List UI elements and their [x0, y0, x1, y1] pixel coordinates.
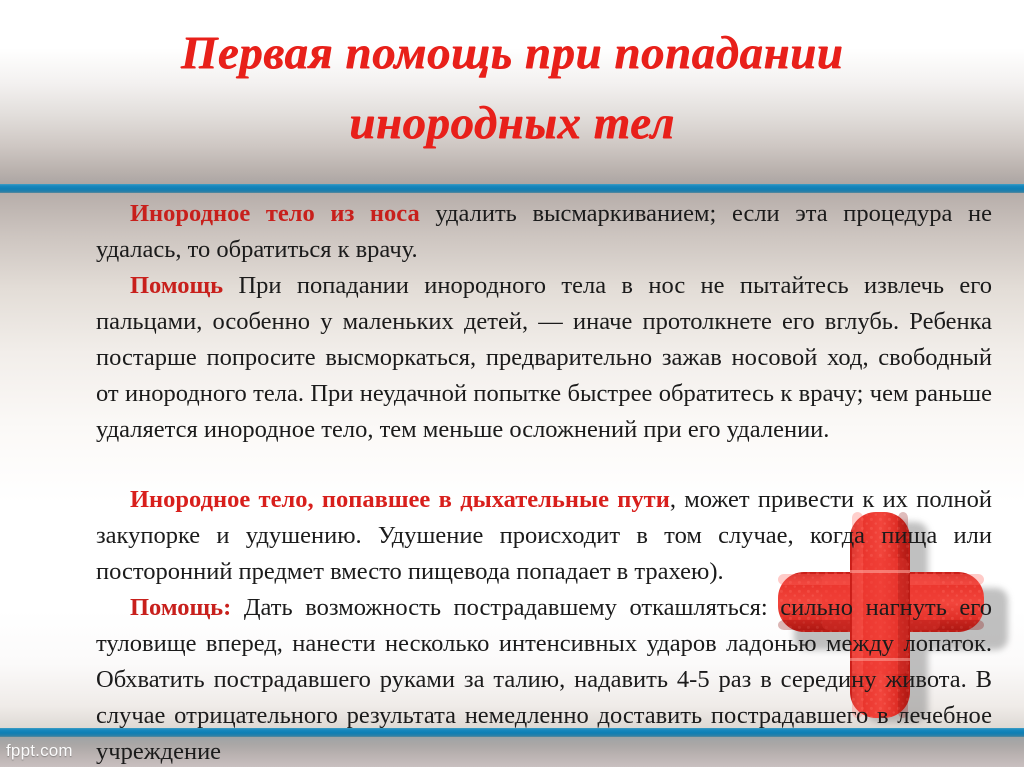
paragraph-nose-help: Помощь При попадании инородного тела в н… — [96, 268, 992, 448]
footer-watermark: fppt.com — [6, 741, 73, 761]
text-airway-help: Дать возможность пострадавшему откашлять… — [96, 594, 992, 765]
paragraph-airway-foreign-body: Инородное тело, попавшее в дыхательные п… — [96, 482, 992, 590]
lead-nose-removal: Инородное тело из носа — [130, 200, 420, 227]
title-line-2: инородных тел — [0, 88, 1024, 158]
slide-title: Первая помощь при попадании инородных те… — [0, 18, 1024, 158]
divider-rule-top — [0, 184, 1024, 193]
title-line-1: Первая помощь при попадании — [0, 18, 1024, 88]
lead-nose-help: Помощь — [130, 272, 223, 299]
slide-body: Инородное тело из носа удалить высмаркив… — [96, 196, 992, 767]
slide-canvas: Первая помощь при попадании инородных те… — [0, 0, 1024, 767]
text-nose-help: При попадании инородного тела в нос не п… — [96, 272, 992, 443]
paragraph-airway-help: Помощь: Дать возможность пострадавшему о… — [96, 590, 992, 767]
lead-airway-help: Помощь: — [130, 594, 231, 621]
paragraph-nose-removal: Инородное тело из носа удалить высмаркив… — [96, 196, 992, 268]
lead-airway-foreign-body: Инородное тело, попавшее в дыхательные п… — [130, 486, 670, 513]
